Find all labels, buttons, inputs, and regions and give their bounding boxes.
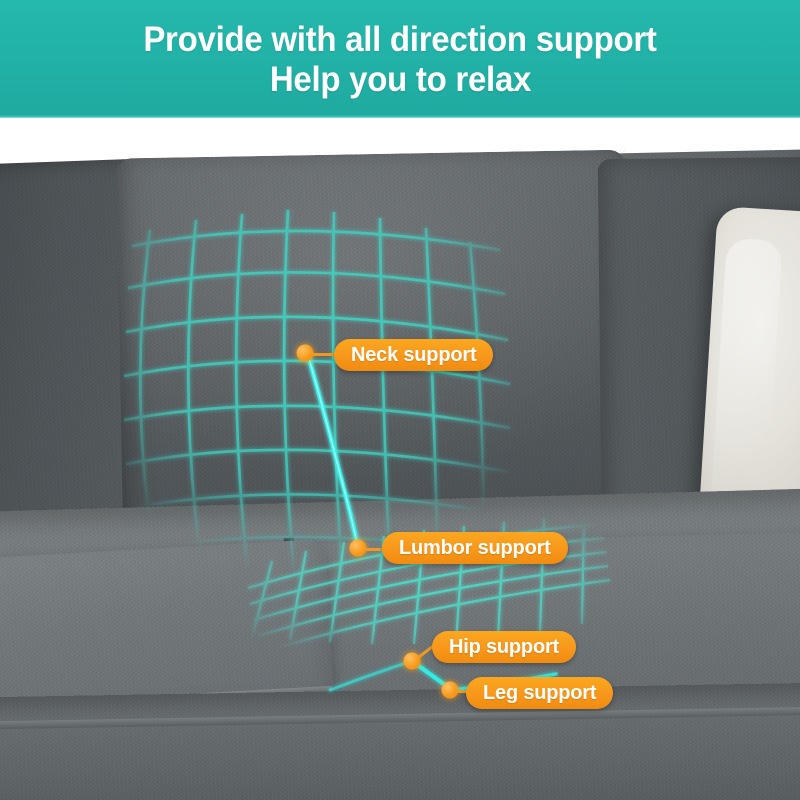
product-photo: Neck support Lumbor support Hip support … (0, 118, 800, 800)
callout-lumbar-support[interactable]: Lumbor support (382, 532, 568, 564)
callout-leg-support[interactable]: Leg support (466, 677, 613, 709)
callout-neck-support[interactable]: Neck support (334, 339, 493, 371)
marker-dot-lumbar (350, 540, 367, 557)
callout-hip-label: Hip support (449, 631, 559, 663)
callout-neck-label: Neck support (351, 339, 476, 371)
marker-dot-leg (442, 682, 459, 699)
sofa-base (0, 682, 800, 800)
header-banner: Provide with all direction support Help … (0, 0, 800, 118)
banner-headline-line-2: Help you to relax (269, 59, 530, 99)
banner-headline-line-1: Provide with all direction support (143, 19, 656, 59)
infographic-stage: Provide with all direction support Help … (0, 0, 800, 800)
callout-lumbar-label: Lumbor support (399, 532, 551, 564)
fabric-texture (0, 682, 800, 800)
callout-hip-support[interactable]: Hip support (432, 631, 576, 663)
marker-dot-neck (297, 345, 314, 362)
marker-dot-hip (404, 653, 421, 670)
callout-leg-label: Leg support (483, 677, 596, 709)
